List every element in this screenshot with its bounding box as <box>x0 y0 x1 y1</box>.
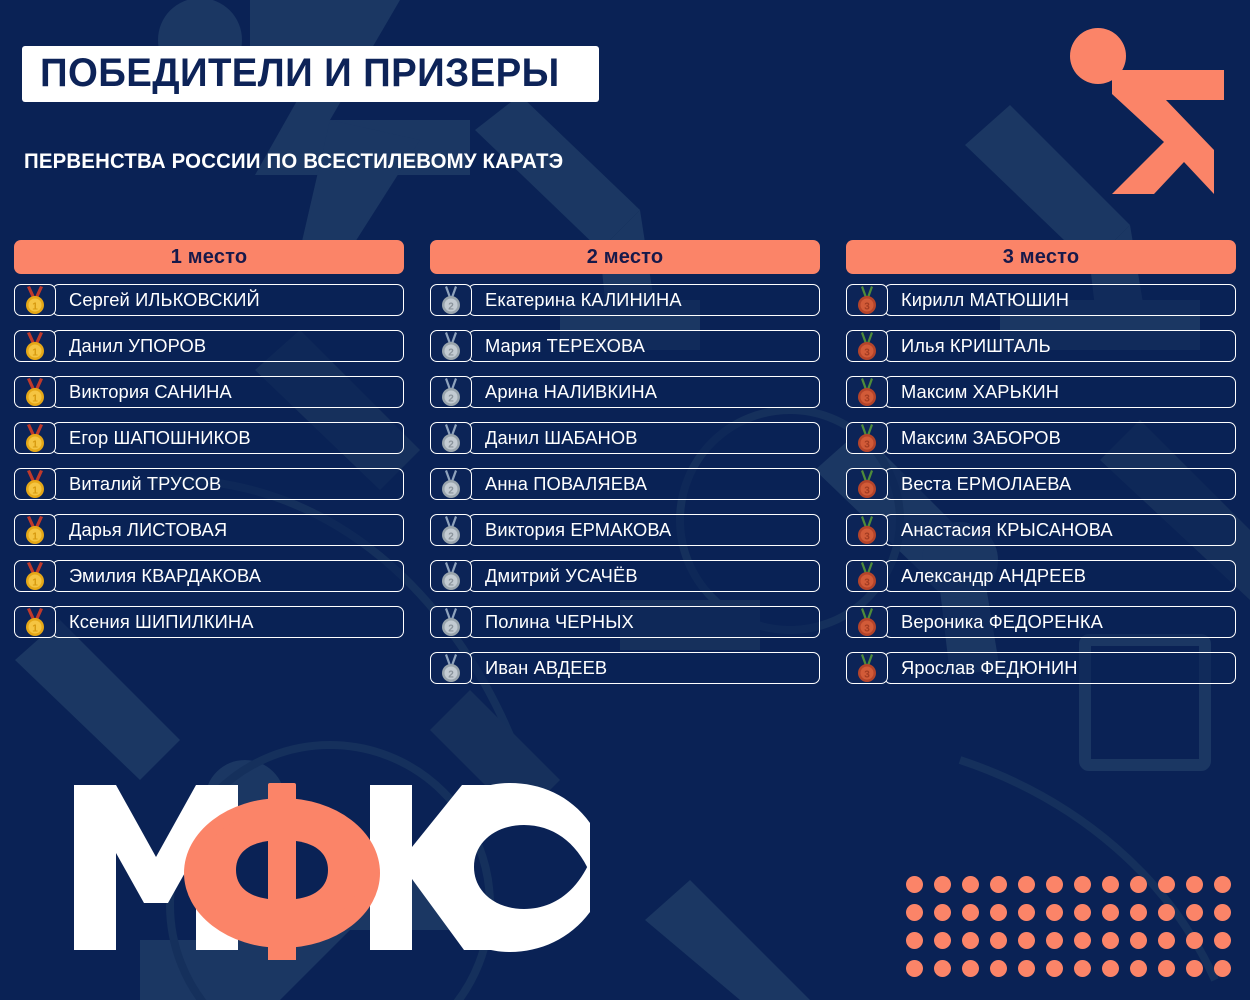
svg-text:3: 3 <box>864 670 870 681</box>
silver-medal-icon: 2 <box>430 560 472 592</box>
winner-name: Максим ХАРЬКИН <box>901 381 1059 403</box>
decor-dot <box>1214 960 1231 977</box>
winner-name-box: Егор ШАПОШНИКОВ <box>52 422 404 454</box>
winner-name-box: Дарья ЛИСТОВАЯ <box>52 514 404 546</box>
place-label-1: 1 место <box>171 246 248 269</box>
winner-name: Кирилл МАТЮШИН <box>901 289 1069 311</box>
svg-text:3: 3 <box>864 348 870 359</box>
winner-name-box: Илья КРИШТАЛЬ <box>884 330 1236 362</box>
table-row[interactable]: 3 Максим ЗАБОРОВ <box>846 422 1236 454</box>
winner-name-box: Арина НАЛИВКИНА <box>468 376 820 408</box>
decor-dot <box>1018 960 1035 977</box>
winner-name: Илья КРИШТАЛЬ <box>901 335 1051 357</box>
table-row[interactable]: 2 Иван АВДЕЕВ <box>430 652 820 684</box>
table-row[interactable]: 1 Данил УПОРОВ <box>14 330 404 362</box>
table-row[interactable]: 3 Илья КРИШТАЛЬ <box>846 330 1236 362</box>
svg-text:2: 2 <box>448 532 454 543</box>
svg-text:3: 3 <box>864 486 870 497</box>
svg-text:1: 1 <box>32 624 38 635</box>
silver-medal-icon: 2 <box>430 468 472 500</box>
winner-name: Виктория САНИНА <box>69 381 232 403</box>
table-row[interactable]: 2 Полина ЧЕРНЫХ <box>430 606 820 638</box>
svg-text:1: 1 <box>32 486 38 497</box>
gold-medal-icon: 1 <box>14 422 56 454</box>
results-columns: 1 место 1 Сергей ИЛЬКОВСКИЙ 1 Данил УПОР… <box>0 240 1250 698</box>
table-row[interactable]: 1 Виктория САНИНА <box>14 376 404 408</box>
winner-name: Данил ШАБАНОВ <box>485 427 638 449</box>
silver-medal-icon: 2 <box>430 514 472 546</box>
winner-name-box: Сергей ИЛЬКОВСКИЙ <box>52 284 404 316</box>
silver-medal-icon: 2 <box>430 606 472 638</box>
winner-name-box: Анастасия КРЫСАНОВА <box>884 514 1236 546</box>
athlete-figure-icon <box>1046 14 1236 204</box>
gold-medal-icon: 1 <box>14 514 56 546</box>
winner-name: Александр АНДРЕЕВ <box>901 565 1086 587</box>
table-row[interactable]: 3 Вероника ФЕДОРЕНКА <box>846 606 1236 638</box>
decor-dot <box>1130 904 1147 921</box>
decor-dot <box>934 960 951 977</box>
decor-dot <box>1102 932 1119 949</box>
svg-text:2: 2 <box>448 348 454 359</box>
winner-name-box: Екатерина КАЛИНИНА <box>468 284 820 316</box>
svg-text:3: 3 <box>864 532 870 543</box>
table-row[interactable]: 2 Дмитрий УСАЧЁВ <box>430 560 820 592</box>
table-row[interactable]: 3 Веста ЕРМОЛАЕВА <box>846 468 1236 500</box>
winner-name: Данил УПОРОВ <box>69 335 206 357</box>
decor-dot <box>1102 960 1119 977</box>
winner-name: Веста ЕРМОЛАЕВА <box>901 473 1071 495</box>
decor-dot <box>1186 932 1203 949</box>
decor-dot <box>1046 960 1063 977</box>
gold-medal-icon: 1 <box>14 468 56 500</box>
bronze-medal-icon: 3 <box>846 514 888 546</box>
bronze-medal-icon: 3 <box>846 376 888 408</box>
dot-grid-decoration <box>900 870 1236 982</box>
decor-dot <box>962 904 979 921</box>
decor-dot <box>1186 960 1203 977</box>
bronze-medal-icon: 3 <box>846 330 888 362</box>
winner-name: Анна ПОВАЛЯЕВА <box>485 473 647 495</box>
page-title: ПОБЕДИТЕЛИ И ПРИЗЕРЫ <box>40 53 560 93</box>
svg-text:2: 2 <box>448 624 454 635</box>
winner-name: Полина ЧЕРНЫХ <box>485 611 634 633</box>
decor-dot <box>1214 876 1231 893</box>
winner-name-box: Максим ХАРЬКИН <box>884 376 1236 408</box>
svg-text:2: 2 <box>448 486 454 497</box>
bronze-medal-icon: 3 <box>846 284 888 316</box>
gold-medal-icon: 1 <box>14 376 56 408</box>
table-row[interactable]: 2 Данил ШАБАНОВ <box>430 422 820 454</box>
decor-dot <box>1158 904 1175 921</box>
decor-dot <box>990 932 1007 949</box>
place-label-2: 2 место <box>587 246 664 269</box>
table-row[interactable]: 1 Дарья ЛИСТОВАЯ <box>14 514 404 546</box>
svg-text:3: 3 <box>864 394 870 405</box>
decor-dot <box>934 904 951 921</box>
table-row[interactable]: 3 Кирилл МАТЮШИН <box>846 284 1236 316</box>
winner-name: Дарья ЛИСТОВАЯ <box>69 519 227 541</box>
winner-name: Арина НАЛИВКИНА <box>485 381 657 403</box>
decor-dot <box>1074 960 1091 977</box>
decor-dot <box>906 876 923 893</box>
place-header-3: 3 место <box>846 240 1236 274</box>
table-row[interactable]: 2 Мария ТЕРЕХОВА <box>430 330 820 362</box>
page-subtitle: ПЕРВЕНСТВА РОССИИ ПО ВСЕСТИЛЕВОМУ КАРАТЭ <box>24 150 563 174</box>
decor-dot <box>1130 960 1147 977</box>
place-header-2: 2 место <box>430 240 820 274</box>
svg-text:3: 3 <box>864 440 870 451</box>
decor-dot <box>990 960 1007 977</box>
poster-root: ПОБЕДИТЕЛИ И ПРИЗЕРЫ ПЕРВЕНСТВА РОССИИ П… <box>0 0 1250 1000</box>
bronze-medal-icon: 3 <box>846 468 888 500</box>
decor-dot <box>990 904 1007 921</box>
table-row[interactable]: 1 Ксения ШИПИЛКИНА <box>14 606 404 638</box>
silver-medal-icon: 2 <box>430 330 472 362</box>
svg-text:2: 2 <box>448 302 454 313</box>
winner-name-box: Дмитрий УСАЧЁВ <box>468 560 820 592</box>
winner-name-box: Ярослав ФЕДЮНИН <box>884 652 1236 684</box>
winner-name-box: Виктория ЕРМАКОВА <box>468 514 820 546</box>
decor-dot <box>1102 904 1119 921</box>
gold-medal-icon: 1 <box>14 560 56 592</box>
decor-dot <box>1046 904 1063 921</box>
decor-dot <box>990 876 1007 893</box>
winner-name: Вероника ФЕДОРЕНКА <box>901 611 1103 633</box>
winner-name-box: Виктория САНИНА <box>52 376 404 408</box>
page-title-band: ПОБЕДИТЕЛИ И ПРИЗЕРЫ <box>22 46 599 102</box>
table-row[interactable]: 1 Эмилия КВАРДАКОВА <box>14 560 404 592</box>
decor-dot <box>1074 876 1091 893</box>
svg-text:3: 3 <box>864 302 870 313</box>
svg-text:1: 1 <box>32 578 38 589</box>
winner-name-box: Александр АНДРЕЕВ <box>884 560 1236 592</box>
place-header-1: 1 место <box>14 240 404 274</box>
bronze-medal-icon: 3 <box>846 560 888 592</box>
decor-dot <box>1018 876 1035 893</box>
svg-text:2: 2 <box>448 670 454 681</box>
table-row[interactable]: 1 Виталий ТРУСОВ <box>14 468 404 500</box>
svg-text:2: 2 <box>448 440 454 451</box>
winner-name: Анастасия КРЫСАНОВА <box>901 519 1113 541</box>
svg-text:1: 1 <box>32 532 38 543</box>
svg-text:1: 1 <box>32 440 38 451</box>
column-second-place: 2 место 2 Екатерина КАЛИНИНА 2 Мария ТЕР… <box>430 240 820 698</box>
winner-name-box: Веста ЕРМОЛАЕВА <box>884 468 1236 500</box>
svg-text:1: 1 <box>32 348 38 359</box>
decor-dot <box>934 876 951 893</box>
table-row[interactable]: 2 Анна ПОВАЛЯЕВА <box>430 468 820 500</box>
svg-text:2: 2 <box>448 578 454 589</box>
table-row[interactable]: 3 Анастасия КРЫСАНОВА <box>846 514 1236 546</box>
winner-name-box: Данил УПОРОВ <box>52 330 404 362</box>
table-row[interactable]: 3 Александр АНДРЕЕВ <box>846 560 1236 592</box>
decor-dot <box>1130 932 1147 949</box>
decor-dot <box>1158 932 1175 949</box>
decor-dot <box>1214 932 1231 949</box>
decor-dot <box>1186 876 1203 893</box>
silver-medal-icon: 2 <box>430 422 472 454</box>
decor-dot <box>906 960 923 977</box>
gold-medal-icon: 1 <box>14 330 56 362</box>
gold-medal-icon: 1 <box>14 284 56 316</box>
winner-name: Сергей ИЛЬКОВСКИЙ <box>69 289 260 311</box>
decor-dot <box>1158 960 1175 977</box>
table-row[interactable]: 1 Сергей ИЛЬКОВСКИЙ <box>14 284 404 316</box>
winner-name: Ярослав ФЕДЮНИН <box>901 657 1078 679</box>
decor-dot <box>1046 932 1063 949</box>
winner-name-box: Полина ЧЕРНЫХ <box>468 606 820 638</box>
decor-dot <box>1186 904 1203 921</box>
table-row[interactable]: 2 Арина НАЛИВКИНА <box>430 376 820 408</box>
decor-dot <box>1018 904 1035 921</box>
column-third-place: 3 место 3 Кирилл МАТЮШИН 3 Илья КРИШТАЛЬ… <box>846 240 1236 698</box>
winner-name-box: Виталий ТРУСОВ <box>52 468 404 500</box>
silver-medal-icon: 2 <box>430 376 472 408</box>
decor-dot <box>906 932 923 949</box>
svg-text:1: 1 <box>32 302 38 313</box>
decor-dot <box>962 876 979 893</box>
svg-text:3: 3 <box>864 624 870 635</box>
gold-medal-icon: 1 <box>14 606 56 638</box>
winner-name-box: Мария ТЕРЕХОВА <box>468 330 820 362</box>
winner-name: Максим ЗАБОРОВ <box>901 427 1061 449</box>
decor-dot <box>906 904 923 921</box>
decor-dot <box>1214 904 1231 921</box>
winner-name: Егор ШАПОШНИКОВ <box>69 427 251 449</box>
winner-name-box: Вероника ФЕДОРЕНКА <box>884 606 1236 638</box>
winner-name-box: Эмилия КВАРДАКОВА <box>52 560 404 592</box>
table-row[interactable]: 2 Екатерина КАЛИНИНА <box>430 284 820 316</box>
winner-name-box: Кирилл МАТЮШИН <box>884 284 1236 316</box>
winner-name: Дмитрий УСАЧЁВ <box>485 565 638 587</box>
place-label-3: 3 место <box>1003 246 1080 269</box>
decor-dot <box>962 960 979 977</box>
bronze-medal-icon: 3 <box>846 606 888 638</box>
decor-dot <box>934 932 951 949</box>
decor-dot <box>1102 876 1119 893</box>
winner-name: Виктория ЕРМАКОВА <box>485 519 671 541</box>
decor-dot <box>962 932 979 949</box>
decor-dot <box>1046 876 1063 893</box>
winner-name: Мария ТЕРЕХОВА <box>485 335 645 357</box>
decor-dot <box>1130 876 1147 893</box>
bronze-medal-icon: 3 <box>846 652 888 684</box>
silver-medal-icon: 2 <box>430 652 472 684</box>
winner-name: Виталий ТРУСОВ <box>69 473 221 495</box>
winner-name-box: Анна ПОВАЛЯЕВА <box>468 468 820 500</box>
winner-name-box: Ксения ШИПИЛКИНА <box>52 606 404 638</box>
mfks-logo <box>70 775 590 960</box>
decor-dot <box>1074 904 1091 921</box>
column-first-place: 1 место 1 Сергей ИЛЬКОВСКИЙ 1 Данил УПОР… <box>14 240 404 698</box>
winner-name-box: Данил ШАБАНОВ <box>468 422 820 454</box>
winner-name: Иван АВДЕЕВ <box>485 657 607 679</box>
winner-name: Ксения ШИПИЛКИНА <box>69 611 254 633</box>
silver-medal-icon: 2 <box>430 284 472 316</box>
winner-name: Эмилия КВАРДАКОВА <box>69 565 261 587</box>
table-row[interactable]: 1 Егор ШАПОШНИКОВ <box>14 422 404 454</box>
winner-name-box: Иван АВДЕЕВ <box>468 652 820 684</box>
decor-dot <box>1018 932 1035 949</box>
table-row[interactable]: 2 Виктория ЕРМАКОВА <box>430 514 820 546</box>
decor-dot <box>1074 932 1091 949</box>
svg-text:1: 1 <box>32 394 38 405</box>
svg-text:3: 3 <box>864 578 870 589</box>
table-row[interactable]: 3 Максим ХАРЬКИН <box>846 376 1236 408</box>
decor-dot <box>1158 876 1175 893</box>
table-row[interactable]: 3 Ярослав ФЕДЮНИН <box>846 652 1236 684</box>
winner-name-box: Максим ЗАБОРОВ <box>884 422 1236 454</box>
svg-text:2: 2 <box>448 394 454 405</box>
bronze-medal-icon: 3 <box>846 422 888 454</box>
winner-name: Екатерина КАЛИНИНА <box>485 289 682 311</box>
